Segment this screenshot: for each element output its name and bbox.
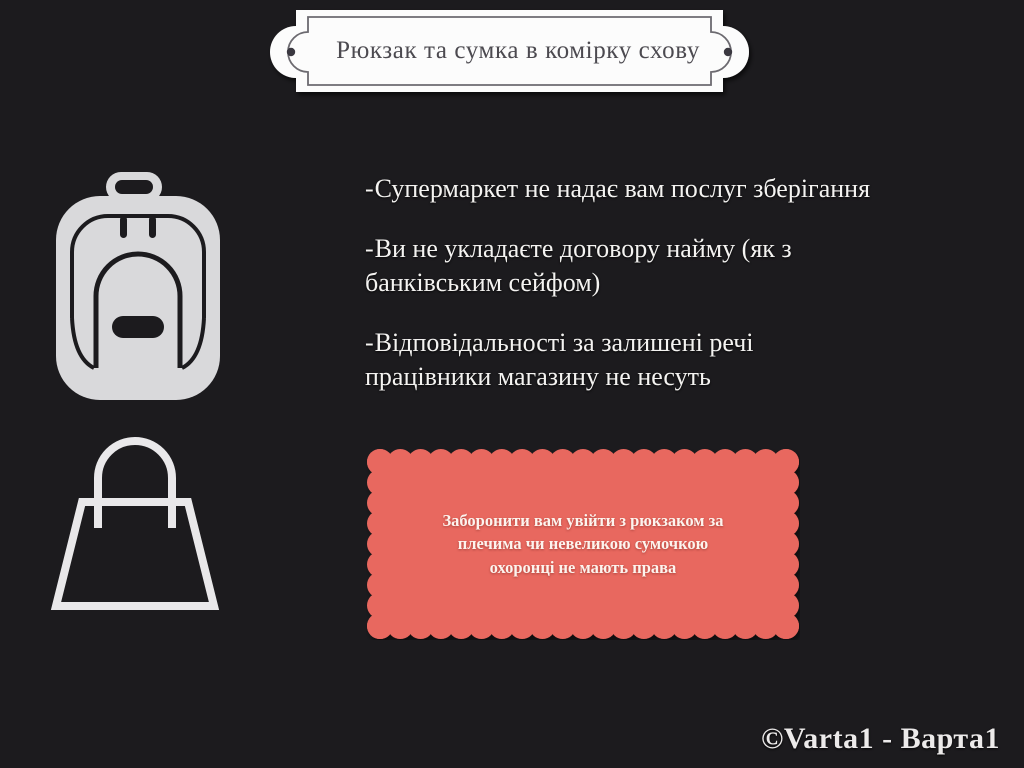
title-plaque: Рюкзак та сумка в комірку схову: [268, 2, 768, 100]
handbag-handle: [98, 441, 172, 528]
callout-box: Заборонити вам увійти з рюкзаком за плеч…: [366, 448, 800, 640]
bullet-line: Ви не укладаєте договору найму (як з: [375, 234, 792, 263]
handbag-body: [56, 502, 214, 606]
handbag-icon: [42, 428, 228, 620]
list-item: -Супермаркет не надає вам послуг зберіга…: [365, 172, 993, 207]
callout-line: Заборонити вам увійти з рюкзаком за: [442, 509, 723, 532]
bullet-dash: -: [365, 174, 374, 203]
slide-canvas: Рюкзак та сумка в комірку схову: [0, 0, 1024, 768]
list-item: -Відповідальності за залишені речі праці…: [365, 326, 993, 395]
bullet-dash: -: [365, 234, 374, 263]
backpack-icon-shape: [52, 168, 224, 404]
bullet-list: -Супермаркет не надає вам послуг зберіга…: [365, 172, 993, 395]
backpack-handle-hole: [115, 180, 153, 194]
handbag-icon-shape: [42, 428, 228, 620]
backpack-strap-left: [120, 216, 127, 238]
backpack-icon: [52, 168, 224, 404]
bullet-line: працівники магазину не несуть: [365, 362, 711, 391]
list-item: -Ви не укладаєте договору найму (як з ба…: [365, 232, 993, 301]
backpack-strap-right: [149, 216, 156, 238]
bullet-line: Відповідальності за залишені речі: [375, 328, 754, 357]
callout-line: охоронці не мають права: [490, 556, 677, 579]
callout-line: плечима чи невеликою сумочкою: [458, 532, 708, 555]
watermark: ©Varta1 - Варта1: [761, 722, 1000, 756]
page-title: Рюкзак та сумка в комірку схову: [268, 2, 768, 100]
bullet-dash: -: [365, 328, 374, 357]
bullet-line: банківським сейфом): [365, 268, 600, 297]
backpack-zipper: [112, 316, 164, 338]
bullet-line: Супермаркет не надає вам послуг зберіган…: [375, 174, 870, 203]
callout-text: Заборонити вам увійти з рюкзаком за плеч…: [392, 448, 774, 640]
